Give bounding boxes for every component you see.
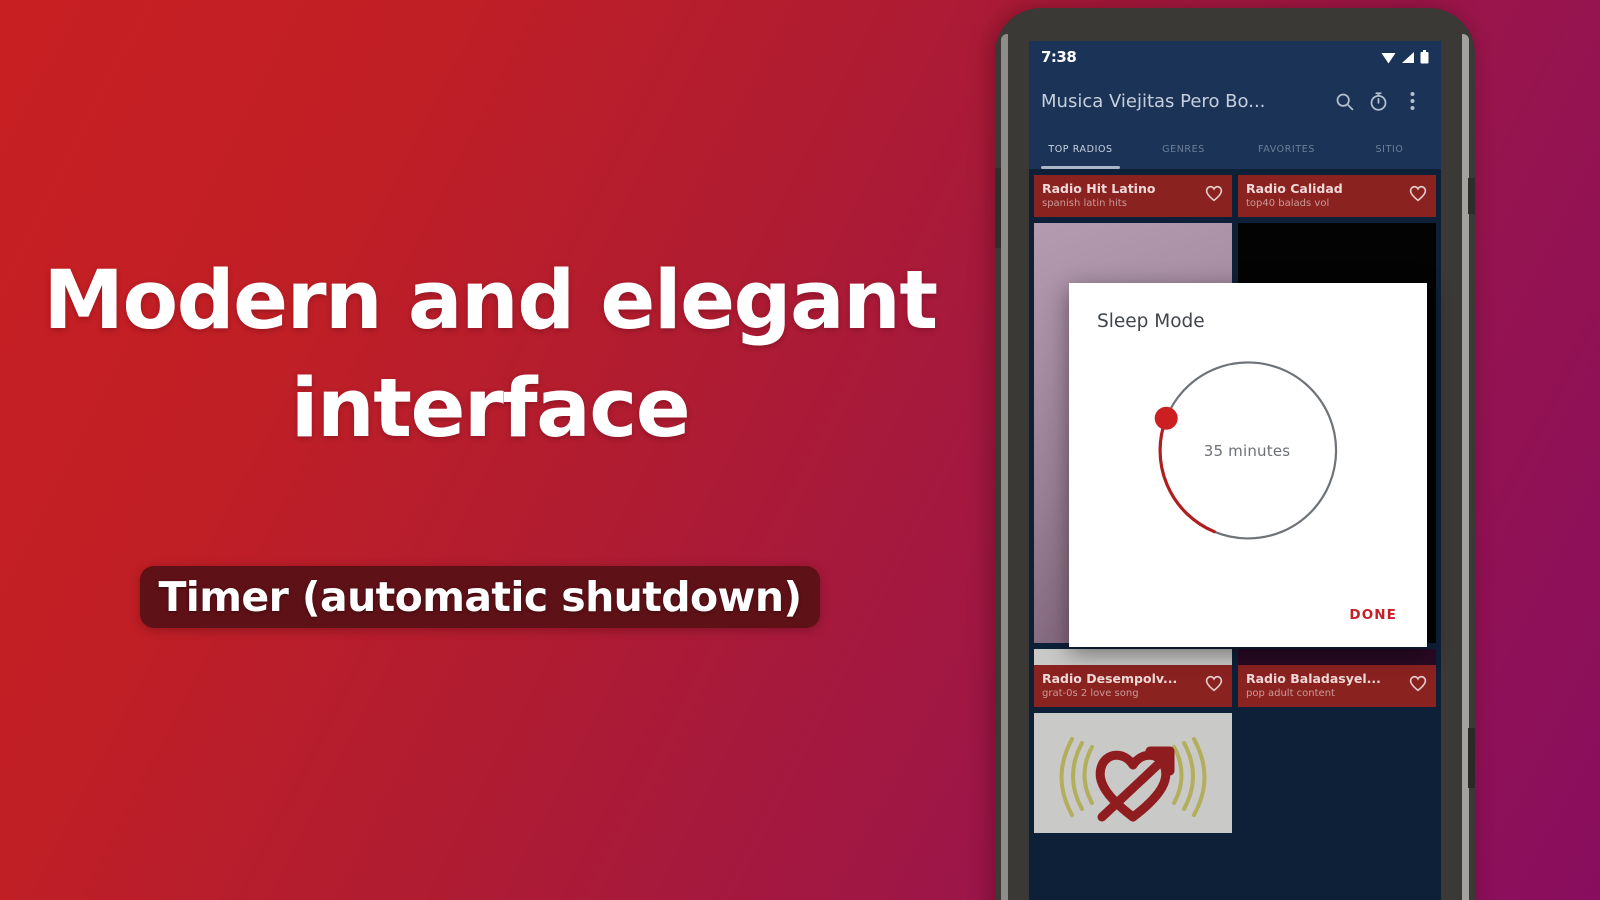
station-subtitle: grat-0s 2 love song: [1042, 688, 1198, 699]
search-icon[interactable]: [1327, 84, 1361, 118]
station-card-meta: Radio Desempolv... grat-0s 2 love song: [1034, 665, 1232, 707]
overflow-menu-icon[interactable]: [1395, 84, 1429, 118]
station-card-text: Radio Hit Latino spanish latin hits: [1042, 181, 1198, 209]
station-card[interactable]: Radio Calidad top40 balads vol: [1238, 175, 1436, 217]
heart-icon[interactable]: [1408, 184, 1428, 207]
tab-top-radios[interactable]: TOP RADIOS: [1029, 129, 1132, 169]
phone-volume-button[interactable]: [1468, 728, 1475, 788]
phone-side-button-left[interactable]: [995, 168, 1001, 248]
wifi-icon: [1381, 51, 1396, 64]
station-card-text: Radio Baladasyel... pop adult content: [1246, 671, 1402, 699]
station-card-meta: Radio Calidad top40 balads vol: [1238, 175, 1436, 217]
timer-icon[interactable]: [1361, 84, 1395, 118]
station-title: Radio Baladasyel...: [1246, 671, 1402, 686]
station-subtitle: spanish latin hits: [1042, 198, 1198, 209]
heart-icon[interactable]: [1204, 184, 1224, 207]
heart-arrow-logo: [1034, 713, 1232, 833]
station-title: Radio Hit Latino: [1042, 181, 1198, 196]
sleep-timer-dial[interactable]: 35 minutes: [1151, 355, 1343, 547]
album-art-purple: [1238, 649, 1436, 665]
app-bar: Musica Viejitas Pero Bo...: [1029, 73, 1441, 129]
signal-icon: [1401, 51, 1415, 64]
phone-power-button[interactable]: [1468, 178, 1475, 214]
station-card-meta: Radio Baladasyel... pop adult content: [1238, 665, 1436, 707]
heart-icon[interactable]: [1408, 674, 1428, 697]
dialog-title: Sleep Mode: [1097, 311, 1205, 332]
promo-text-panel: Modern and elegant interface Timer (auto…: [0, 0, 980, 900]
tab-sitio[interactable]: SITIO: [1338, 129, 1441, 169]
feature-badge: Timer (automatic shutdown): [140, 566, 820, 628]
station-card[interactable]: Radio Baladasyel... pop adult content: [1238, 649, 1436, 707]
tab-bar: TOP RADIOS GENRES FAVORITES SITIO: [1029, 129, 1441, 169]
promo-screenshot: Modern and elegant interface Timer (auto…: [0, 0, 1600, 900]
station-subtitle: top40 balads vol: [1246, 198, 1402, 209]
status-icons: [1381, 50, 1429, 64]
battery-icon: [1420, 50, 1429, 64]
station-card-text: Radio Calidad top40 balads vol: [1246, 181, 1402, 209]
album-art-gray: [1034, 649, 1232, 665]
phone-bezel-left: [1001, 34, 1008, 900]
page-title: Modern and elegant interface: [40, 248, 940, 463]
station-card[interactable]: Radio Desempolv... grat-0s 2 love song: [1034, 649, 1232, 707]
station-card[interactable]: [1034, 713, 1232, 833]
sleep-mode-dialog: Sleep Mode 35 minutes DONE: [1069, 283, 1427, 647]
status-clock: 7:38: [1041, 48, 1076, 66]
feature-badge-label: Timer (automatic shutdown): [158, 573, 801, 621]
status-bar: 7:38: [1029, 41, 1441, 73]
app-title: Musica Viejitas Pero Bo...: [1041, 91, 1327, 112]
station-card-text: Radio Desempolv... grat-0s 2 love song: [1042, 671, 1198, 699]
dial-value-label: 35 minutes: [1151, 355, 1343, 547]
tab-favorites[interactable]: FAVORITES: [1235, 129, 1338, 169]
station-card-meta: Radio Hit Latino spanish latin hits: [1034, 175, 1232, 217]
station-subtitle: pop adult content: [1246, 688, 1402, 699]
station-card-placeholder: [1238, 713, 1436, 833]
station-title: Radio Desempolv...: [1042, 671, 1198, 686]
heart-icon[interactable]: [1204, 674, 1224, 697]
station-card[interactable]: Radio Hit Latino spanish latin hits: [1034, 175, 1232, 217]
done-button[interactable]: DONE: [1341, 601, 1405, 629]
station-title: Radio Calidad: [1246, 181, 1402, 196]
tab-genres[interactable]: GENRES: [1132, 129, 1235, 169]
